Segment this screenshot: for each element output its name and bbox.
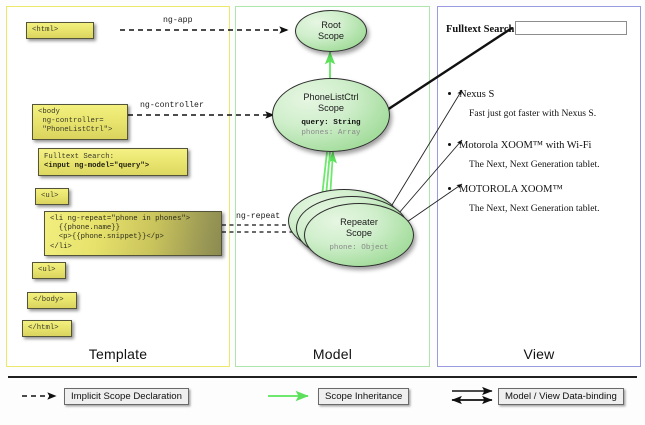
code-block-ul-close: <ul> — [32, 262, 66, 279]
legend-item-implicit-scope-declaration: Implicit Scope Declaration — [64, 388, 189, 405]
scope-repeater-props: phone: Object — [329, 244, 388, 254]
view-phone-name: Motorola XOOM™ with Wi-Fi — [459, 139, 634, 152]
view-phone-item-2: Motorola XOOM™ with Wi-Fi The Next, Next… — [459, 139, 634, 171]
view-content: Fulltext Search: Nexus S Fast just got f… — [437, 6, 639, 365]
edge-label-ng-repeat: ng-repeat — [236, 212, 280, 221]
scope-repeater-title: Repeater Scope — [340, 217, 378, 239]
scope-ctrl-props: query: String phones: Array — [301, 119, 360, 138]
scope-repeater-title-2: Scope — [346, 228, 372, 238]
code-block-search: Fulltext Search: <input ng-model="query"… — [38, 148, 188, 176]
code-block-li-repeat: <li ng-repeat="phone in phones"> {{phone… — [44, 211, 222, 256]
scope-repeater: Repeater Scope phone: Object — [304, 203, 414, 267]
legend-item-model-view-data-binding: Model / View Data-binding — [498, 388, 624, 405]
legend-divider — [8, 376, 637, 378]
code-block-html-open: <html> — [26, 22, 94, 39]
view-phone-item-1: Nexus S Fast just got faster with Nexus … — [459, 88, 634, 120]
scope-ctrl-title-2: Scope — [318, 103, 344, 113]
scope-repeater-title-1: Repeater — [340, 217, 378, 227]
bullet-icon — [448, 187, 451, 190]
code-li-line4: </li> — [50, 243, 72, 251]
scope-root-title: Root Scope — [318, 20, 344, 42]
scope-root-title-2: Scope — [318, 31, 344, 41]
diagram-canvas: Template Model View — [0, 0, 645, 425]
code-block-body-close: </body> — [27, 292, 77, 309]
view-phone-item-3: MOTOROLA XOOM™ The Next, Next Generation… — [459, 183, 634, 215]
code-block-body-open: <body ng-controller= "PhoneListCtrl"> — [32, 104, 128, 140]
code-li-line3: <p>{{phone.snippet}}</p> — [50, 233, 164, 241]
scope-root-title-1: Root — [321, 20, 340, 30]
code-search-input: <input ng-model="query"> — [44, 162, 149, 170]
code-li-line1: <li ng-repeat="phone in phones"> — [50, 215, 190, 223]
code-li-line2: {{phone.name}} — [50, 224, 120, 232]
scope-ctrl-prop-phones: phones: Array — [301, 129, 360, 139]
view-phone-snippet: Fast just got faster with Nexus S. — [469, 107, 634, 120]
scope-ctrl-title: PhoneListCtrl Scope — [303, 92, 358, 114]
view-search-label: Fulltext Search: — [446, 24, 518, 35]
scope-root: Root Scope — [295, 10, 367, 52]
legend-item-scope-inheritance: Scope Inheritance — [318, 388, 409, 405]
panel-template: Template — [6, 6, 230, 367]
view-phone-name: Nexus S — [459, 88, 634, 101]
edge-label-ng-controller: ng-controller — [140, 101, 204, 110]
view-phone-name-text: MOTOROLA XOOM™ — [459, 184, 563, 195]
scope-ctrl-prop-query: query: String — [301, 119, 360, 129]
bullet-icon — [448, 92, 451, 95]
panel-template-label: Template — [7, 346, 229, 362]
panel-model-label: Model — [236, 346, 429, 362]
view-phone-snippet: The Next, Next Generation tablet. — [469, 202, 634, 215]
view-search-input[interactable] — [515, 21, 627, 35]
view-phone-name-text: Nexus S — [459, 89, 494, 100]
panel-model: Model — [235, 6, 430, 367]
code-search-label: Fulltext Search: — [44, 153, 114, 161]
edge-label-ng-app: ng-app — [163, 16, 192, 25]
view-phone-name: MOTOROLA XOOM™ — [459, 183, 634, 196]
bullet-icon — [448, 143, 451, 146]
scope-phonelistctrl: PhoneListCtrl Scope query: String phones… — [272, 78, 390, 152]
view-phone-name-text: Motorola XOOM™ with Wi-Fi — [459, 140, 591, 151]
scope-repeater-prop-phone: phone: Object — [329, 244, 388, 254]
code-block-ul-open: <ul> — [35, 188, 69, 205]
scope-ctrl-title-1: PhoneListCtrl — [303, 92, 358, 102]
view-phone-snippet: The Next, Next Generation tablet. — [469, 158, 634, 171]
code-block-html-close: </html> — [22, 320, 72, 337]
